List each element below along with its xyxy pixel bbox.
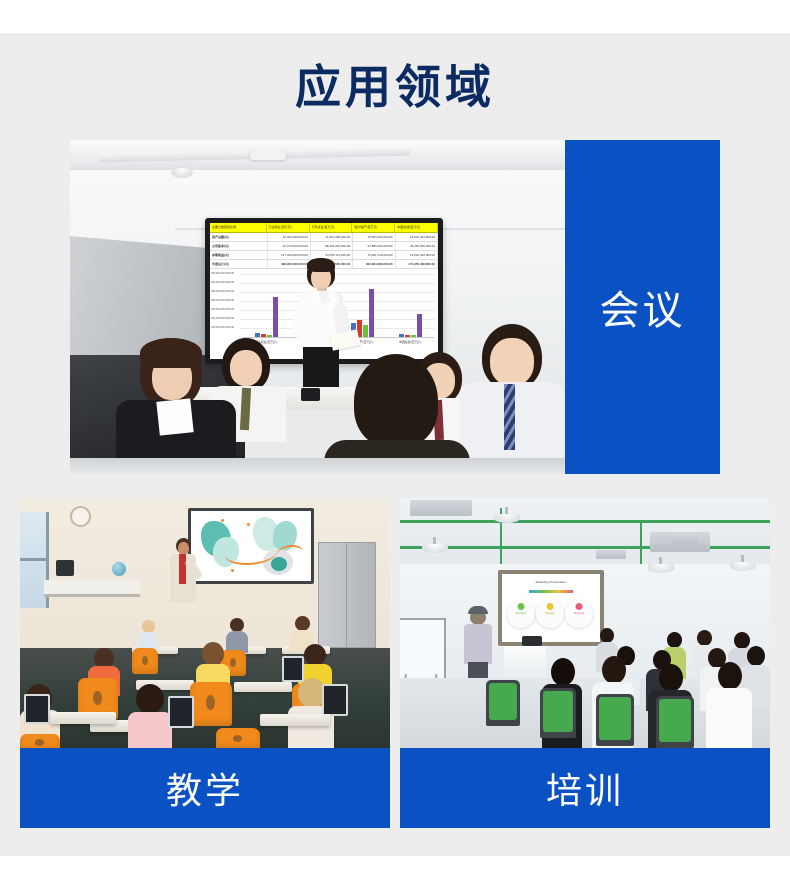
cell: 年度总计(元) [210, 260, 268, 268]
cell: 本期收益(元) [210, 251, 268, 259]
globe-icon [112, 562, 126, 576]
y-axis-tick: 200,000,000,000.00 [211, 317, 234, 320]
attendee-figure [320, 354, 470, 474]
spreadsheet-row: 公司股本(元) 52,743,000,000.00 88,330,094,000… [210, 242, 438, 251]
window-frame-bar [20, 558, 46, 561]
spreadsheet-header-cell: 万达商业(百万元) [267, 223, 310, 232]
projector-unit [672, 534, 698, 544]
y-axis-tick: 300,000,000,000.00 [211, 299, 234, 302]
teacher-figure [170, 538, 196, 616]
student-chair [190, 682, 232, 726]
student-desk [260, 714, 330, 726]
slide-circle-label: Branding [516, 612, 526, 615]
slide-title: Marketing Presentation [536, 580, 567, 584]
storage-cabinet [318, 542, 376, 648]
cell: 88,330,094,000.00 [311, 242, 353, 250]
student-tablet[interactable] [322, 684, 348, 716]
ceiling-projector-icon [250, 147, 286, 160]
bar-series-4 [369, 289, 374, 337]
student-figure [138, 620, 158, 650]
spreadsheet-header-cell: 中国在建(百万元) [395, 223, 438, 232]
smoke-detector-icon [171, 168, 193, 178]
meeting-floor [70, 458, 565, 474]
section-label-meeting: 会议 [565, 140, 720, 474]
flip-chart-board [400, 618, 446, 680]
teacher-desk [44, 580, 140, 597]
meeting-photo: 主要分类项目比例 万达商业(百万元) 万科企业(百万元) 恒大地产(百万元) 中… [70, 140, 565, 474]
student-chair [216, 728, 260, 748]
desk-monitor [56, 560, 74, 576]
section-teaching[interactable]: 教学 [20, 498, 390, 828]
map-marker-icon [221, 519, 224, 522]
camera-device [522, 636, 542, 646]
section-row-bottom: 教学 Marketing Presentation [20, 498, 770, 828]
spreadsheet-header-cell: 万科企业(百万元) [310, 223, 353, 232]
training-chair [656, 696, 694, 748]
x-axis-tick: 中国在建(百万元) [399, 340, 420, 344]
student-chair [20, 734, 60, 748]
slide-circle: Planning [565, 600, 593, 628]
section-label-teaching: 教学 [20, 748, 390, 828]
section-training[interactable]: Marketing Presentation Branding Strategy… [400, 498, 770, 828]
training-chair [486, 680, 520, 726]
cap-icon [468, 606, 488, 614]
cell: 11,831,358,000.00 [311, 233, 353, 241]
y-axis-tick: 400,000,000,000.00 [211, 281, 234, 284]
page-root: 应用领域 主要分类项目比例 万达商业(百万元) 万科企业(百万元) 恒大地产(百… [0, 0, 790, 886]
ceiling-lamp-icon [494, 514, 520, 523]
slide-circle: Strategy [536, 600, 564, 628]
slide-circle: Branding [507, 600, 535, 628]
bar-group [351, 272, 374, 337]
map-arrow-icon [277, 545, 303, 561]
audience-figure [706, 662, 752, 748]
classroom-whiteboard [188, 508, 314, 584]
bar-group [399, 272, 422, 337]
slide-circle-label: Planning [574, 612, 584, 615]
training-photo: Marketing Presentation Branding Strategy… [400, 498, 770, 748]
map-marker-icon [231, 569, 234, 572]
training-display: Marketing Presentation Branding Strategy… [498, 570, 604, 646]
wall-clock-icon [70, 506, 91, 527]
projector-unit [596, 550, 626, 559]
cell: 28,460,296,400.00 [396, 242, 438, 250]
y-axis-tick: 250,000,000,000.00 [211, 308, 234, 311]
attendee-figure [460, 324, 564, 474]
cell: 19,030,426,000.00 [396, 251, 438, 259]
y-axis-tick: 350,000,000,000.00 [211, 290, 234, 293]
section-label-training: 培训 [400, 748, 770, 828]
bar-series-4 [417, 314, 422, 337]
air-duct [410, 500, 472, 516]
teaching-photo [20, 498, 390, 748]
attendee-figure [110, 338, 236, 474]
student-tablet[interactable] [168, 696, 194, 728]
cell: 91,889,003,000.00 [353, 242, 395, 250]
ceiling-pipe [640, 520, 642, 564]
training-chair [540, 688, 576, 738]
cell: 76,901,319,000.00 [353, 251, 395, 259]
bar-group [255, 272, 278, 337]
map-marker-icon [247, 523, 250, 526]
ceiling-lamp-icon [730, 562, 756, 571]
bar-series-3 [363, 325, 368, 337]
section-meeting[interactable]: 主要分类项目比例 万达商业(百万元) 万科企业(百万元) 恒大地产(百万元) 中… [70, 140, 720, 474]
cell: 公司股本(元) [210, 242, 268, 250]
cell: 资产总额(元) [210, 233, 268, 241]
conference-device [301, 388, 320, 401]
student-tablet[interactable] [24, 694, 50, 724]
training-chair [596, 694, 634, 746]
slide-accent-bar [529, 590, 573, 593]
bar-series-4 [273, 297, 278, 337]
spreadsheet-header-row: 主要分类项目比例 万达商业(百万元) 万科企业(百万元) 恒大地产(百万元) 中… [210, 223, 438, 233]
ceiling-lamp-icon [422, 544, 448, 553]
spreadsheet-header-cell: 恒大地产(百万元) [352, 223, 395, 232]
spreadsheet-row: 资产总额(元) 36,464,000,000.00 11,831,358,000… [210, 233, 438, 242]
student-desk [234, 682, 292, 692]
cell: 171,955,468,800.00 [396, 260, 438, 268]
cell: 18,933,444,800.00 [396, 233, 438, 241]
ceiling-pipe [400, 520, 770, 523]
cell: 52,743,000,000.00 [268, 242, 310, 250]
student-figure [128, 684, 172, 748]
student-chair [132, 648, 158, 674]
spreadsheet-header-cell: 主要分类项目比例 [210, 223, 267, 232]
cell: 362,384,289,000.00 [353, 260, 395, 268]
y-axis-tick: 150,000,000,000.00 [211, 326, 234, 329]
page-title: 应用领域 [0, 59, 790, 115]
student-desk [50, 712, 116, 724]
ceiling-pipe [400, 546, 770, 549]
cell: 78,663,300,000.00 [353, 233, 395, 241]
y-axis-tick: 450,000,000,000.00 [211, 272, 234, 275]
ceiling-lamp-icon [648, 564, 674, 573]
cell: 36,464,000,000.00 [268, 233, 310, 241]
slide-circle-label: Strategy [545, 612, 555, 615]
